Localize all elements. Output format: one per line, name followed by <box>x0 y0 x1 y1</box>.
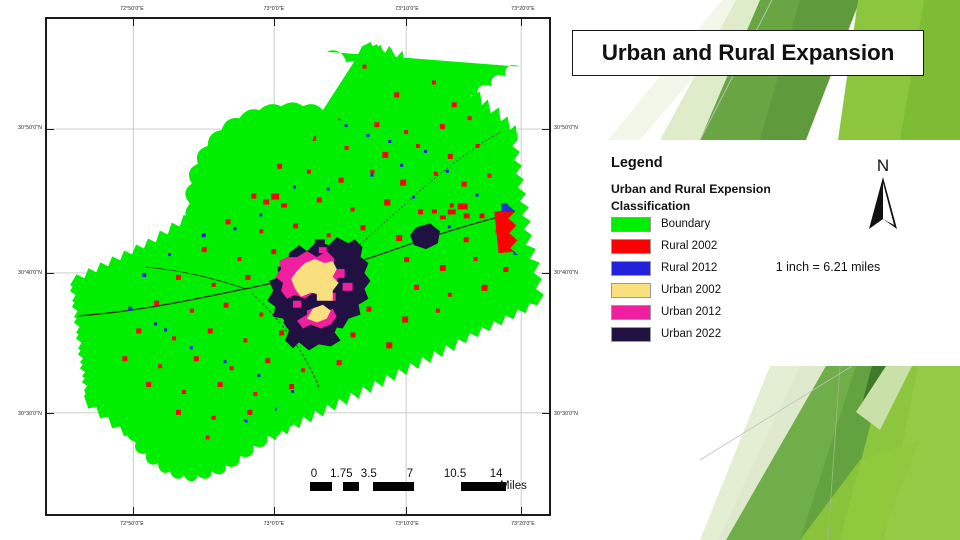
slide-canvas: 72°50'0"E 73°0'0"E 73°10'0"E 73°20'0"E 7… <box>0 0 960 540</box>
scale-bar-segment-3 <box>343 482 359 491</box>
tick-top-3 <box>406 19 407 26</box>
scale-bar-label-0: 0 <box>311 468 317 480</box>
scale-bar-label-4: 10.5 <box>444 468 466 480</box>
legend-swatch-urban-2012 <box>611 305 651 320</box>
graticule-label-right-1: 30°50'0"N <box>554 125 578 131</box>
north-arrow-icon <box>861 175 905 231</box>
map-graphic <box>47 19 549 514</box>
scale-bar-segment-6 <box>414 482 461 491</box>
graticule-label-right-3: 30°30'0"N <box>554 411 578 417</box>
legend-swatch-boundary <box>611 217 651 232</box>
graticule-label-left-2: 30°40'0"N <box>2 270 42 276</box>
legend-label-urban-2012: Urban 2012 <box>661 306 721 318</box>
map-frame[interactable] <box>45 17 551 516</box>
graticule-label-bottom-4: 73°20'0"E <box>511 521 535 527</box>
graticule-label-top-3: 73°10'0"E <box>395 6 419 12</box>
scale-bar-label-3: 7 <box>407 468 413 480</box>
tick-top-2 <box>274 19 275 26</box>
legend-swatch-rural-2002 <box>611 239 651 254</box>
tick-bottom-1 <box>133 507 134 514</box>
legend-swatch-rural-2012 <box>611 261 651 276</box>
scale-bar: 0 1.75 3.5 7 10.5 14 <box>310 468 506 491</box>
tick-left-2 <box>47 273 54 274</box>
tick-right-3 <box>542 413 549 414</box>
tick-bottom-4 <box>521 507 522 514</box>
legend-label-urban-2002: Urban 2002 <box>661 284 721 296</box>
tick-right-1 <box>542 129 549 130</box>
tick-bottom-3 <box>406 507 407 514</box>
graticule-label-right-2: 30°40'0"N <box>554 270 578 276</box>
north-arrow: N <box>861 156 905 231</box>
scale-bar-segment-4 <box>359 482 373 491</box>
scale-bar-segment-2 <box>332 482 344 491</box>
deco-shape-bot-dark <box>862 366 890 404</box>
legend-label-boundary: Boundary <box>661 218 710 230</box>
graticule-label-top-2: 73°0'0"E <box>264 6 285 12</box>
scale-bar-graphic <box>310 482 506 491</box>
legend-item-urban-2002[interactable]: Urban 2002 <box>611 279 831 301</box>
scale-bar-labels: 0 1.75 3.5 7 10.5 14 <box>310 468 506 482</box>
tick-top-4 <box>521 19 522 26</box>
legend-swatch-urban-2022 <box>611 327 651 342</box>
deco-hairline-bot2 <box>828 366 840 540</box>
scale-bar-segment-1 <box>310 482 332 491</box>
deco-shape-bot-mid <box>726 366 880 540</box>
scale-bar-unit-label: Miles <box>500 480 527 492</box>
map-canvas[interactable] <box>47 19 549 514</box>
tick-left-1 <box>47 129 54 130</box>
graticule-label-bottom-1: 72°50'0"E <box>120 521 144 527</box>
legend: Legend Urban and Rural Expension Classif… <box>611 155 831 345</box>
deco-shape-bot-lime2 <box>884 366 960 540</box>
legend-layer-name: Urban and Rural Expension <box>611 182 831 196</box>
legend-item-urban-2012[interactable]: Urban 2012 <box>611 301 831 323</box>
scale-note-wrap: 1 inch = 6.21 miles <box>776 260 881 274</box>
scale-bar-segment-5 <box>373 482 414 491</box>
legend-heading: Legend <box>611 155 831 171</box>
deco-shape-bot-lime3 <box>800 440 920 540</box>
scale-bar-label-2: 3.5 <box>361 468 377 480</box>
deco-shape-bot-mid2 <box>800 366 884 540</box>
scale-bar-label-5: 14 <box>490 468 503 480</box>
tick-bottom-2 <box>274 507 275 514</box>
tick-left-3 <box>47 413 54 414</box>
legend-label-rural-2012: Rural 2012 <box>661 262 717 274</box>
legend-item-urban-2022[interactable]: Urban 2022 <box>611 323 831 345</box>
page-title: Urban and Rural Expansion <box>602 40 895 66</box>
title-box: Urban and Rural Expansion <box>572 30 924 76</box>
north-arrow-label: N <box>861 156 905 175</box>
scale-bar-label-1: 1.75 <box>330 468 352 480</box>
deco-shape-bot-lime <box>840 366 960 540</box>
graticule-label-bottom-2: 73°0'0"E <box>264 521 285 527</box>
tick-right-2 <box>542 273 549 274</box>
graticule-label-top-4: 73°20'0"E <box>511 6 535 12</box>
deco-hairline-bot1 <box>700 366 852 460</box>
legend-swatch-urban-2002 <box>611 283 651 298</box>
graticule-label-top-1: 72°50'0"E <box>120 6 144 12</box>
legend-label-urban-2022: Urban 2022 <box>661 328 721 340</box>
graticule-label-bottom-3: 73°10'0"E <box>395 521 419 527</box>
deco-shape-bot-lt <box>700 366 824 540</box>
scale-note: 1 inch = 6.21 miles <box>776 260 881 274</box>
legend-item-rural-2002[interactable]: Rural 2002 <box>611 235 831 257</box>
deco-shape-bot-pale2 <box>856 366 912 430</box>
deco-shape-bot-pale <box>700 366 960 540</box>
deco-shape-bot-lt2 <box>718 366 862 540</box>
graticule-label-left-3: 30°30'0"N <box>2 411 42 417</box>
legend-field-name: Classification <box>611 199 831 213</box>
tick-top-1 <box>133 19 134 26</box>
legend-item-boundary[interactable]: Boundary <box>611 213 831 235</box>
graticule-label-left-1: 30°50'0"N <box>2 125 42 131</box>
legend-label-rural-2002: Rural 2002 <box>661 240 717 252</box>
